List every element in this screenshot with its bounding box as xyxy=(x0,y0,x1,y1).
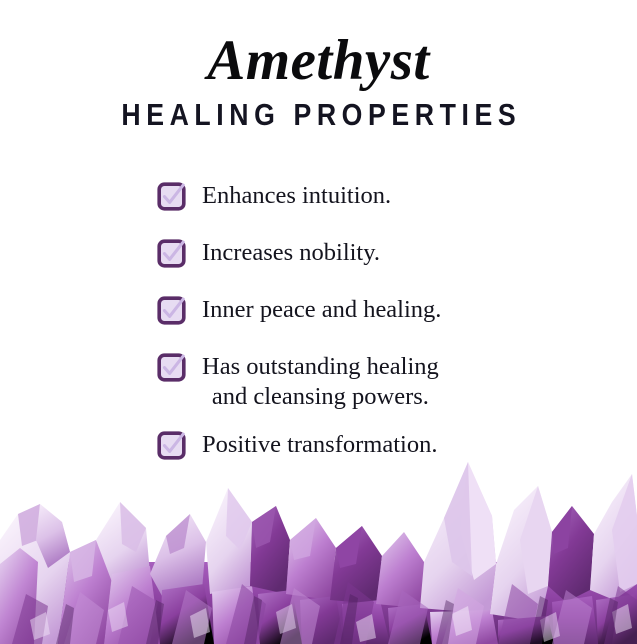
list-item: Has outstanding healing and cleansing po… xyxy=(0,351,637,411)
list-item-label: Inner peace and healing. xyxy=(186,294,441,325)
amethyst-healing-properties-poster: Amethyst HEALING PROPERTIES Enhances int… xyxy=(0,0,637,644)
list-item-label: Enhances intuition. xyxy=(186,180,391,211)
checkbox-checked-icon xyxy=(157,353,186,382)
list-item: Increases nobility. xyxy=(0,237,637,268)
page-title: Amethyst xyxy=(0,32,637,90)
list-item-label: Has outstanding healing and cleansing po… xyxy=(186,351,439,411)
list-item: Enhances intuition. xyxy=(0,180,637,211)
amethyst-crystal-cluster-photo xyxy=(0,444,637,644)
properties-list: Enhances intuition. Increases nobility. … xyxy=(0,180,637,460)
checkbox-checked-icon xyxy=(157,182,186,211)
poster-header: Amethyst HEALING PROPERTIES xyxy=(0,32,637,130)
list-item: Inner peace and healing. xyxy=(0,294,637,325)
checkbox-checked-icon xyxy=(157,296,186,325)
page-subtitle: HEALING PROPERTIES xyxy=(45,99,593,130)
checkbox-checked-icon xyxy=(157,239,186,268)
list-item-label: Increases nobility. xyxy=(186,237,380,268)
